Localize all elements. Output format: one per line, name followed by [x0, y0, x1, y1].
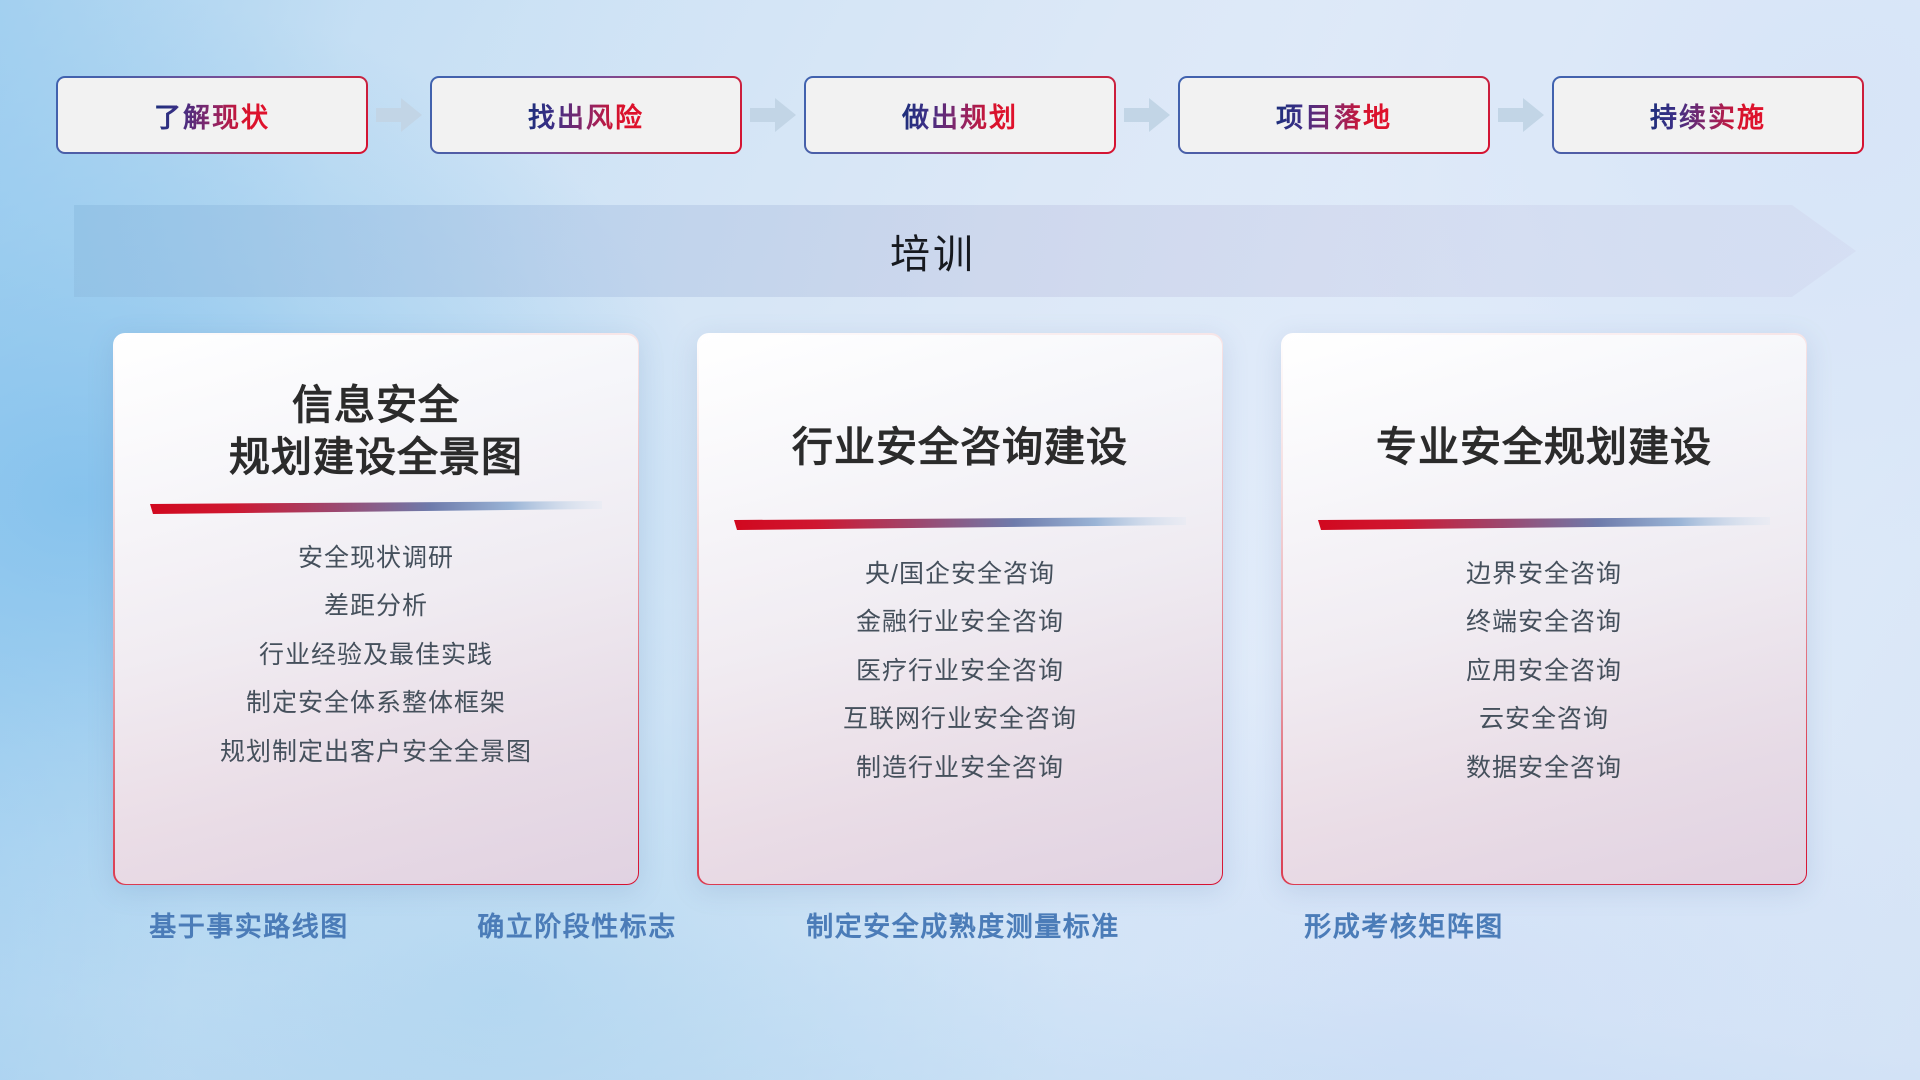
card-list-item: 边界安全咨询	[1466, 556, 1622, 594]
footer-label-3: 制定安全成熟度测量标准	[806, 905, 1120, 944]
step-label: 了解现状	[154, 96, 270, 135]
service-card-inner: 信息安全规划建设全景图安全现状调研差距分析行业经验及最佳实践制定安全体系整体框架…	[115, 335, 638, 884]
card-divider	[1318, 517, 1770, 530]
card-title-line: 行业安全咨询建设	[717, 422, 1204, 474]
card-title: 专业安全规划建设	[1283, 393, 1806, 503]
step-label: 做出规划	[902, 96, 1018, 135]
footer-label-1: 基于事实路线图	[149, 905, 349, 944]
service-card-inner: 行业安全咨询建设央/国企安全咨询金融行业安全咨询医疗行业安全咨询互联网行业安全咨…	[699, 335, 1222, 884]
card-list-item: 制造行业安全咨询	[856, 750, 1064, 788]
footer-label-row: 基于事实路线图确立阶段性标志制定安全成熟度测量标准形成考核矩阵图	[0, 905, 1920, 961]
card-title-line: 规划建设全景图	[133, 432, 620, 484]
card-title-line: 信息安全	[133, 380, 620, 432]
service-card-3[interactable]: 专业安全规划建设边界安全咨询终端安全咨询应用安全咨询云安全咨询数据安全咨询	[1281, 333, 1807, 885]
step-box-2[interactable]: 找出风险	[430, 76, 742, 154]
card-divider	[734, 517, 1186, 530]
step-box-inner: 项目落地	[1180, 78, 1488, 152]
step-arrow-icon	[1116, 98, 1178, 132]
step-box-1[interactable]: 了解现状	[56, 76, 368, 154]
card-list-item: 数据安全咨询	[1466, 750, 1622, 788]
step-box-inner: 做出规划	[806, 78, 1114, 152]
card-list-item: 终端安全咨询	[1466, 604, 1622, 642]
step-label: 项目落地	[1276, 96, 1392, 135]
card-list-item: 规划制定出客户安全全景图	[220, 734, 532, 772]
step-arrow-icon	[742, 98, 804, 132]
step-box-3[interactable]: 做出规划	[804, 76, 1116, 154]
step-arrow-icon	[368, 98, 430, 132]
step-arrow-icon	[1490, 98, 1552, 132]
step-label: 持续实施	[1650, 96, 1766, 135]
card-list-item: 制定安全体系整体框架	[246, 685, 506, 723]
process-step-row: 了解现状找出风险做出规划项目落地持续实施	[0, 76, 1920, 154]
card-list-item: 行业经验及最佳实践	[259, 637, 493, 675]
card-list-item: 金融行业安全咨询	[856, 604, 1064, 642]
card-title: 行业安全咨询建设	[699, 393, 1222, 503]
service-card-1[interactable]: 信息安全规划建设全景图安全现状调研差距分析行业经验及最佳实践制定安全体系整体框架…	[113, 333, 639, 885]
card-row: 信息安全规划建设全景图安全现状调研差距分析行业经验及最佳实践制定安全体系整体框架…	[0, 333, 1920, 885]
service-card-inner: 专业安全规划建设边界安全咨询终端安全咨询应用安全咨询云安全咨询数据安全咨询	[1283, 335, 1806, 884]
step-box-5[interactable]: 持续实施	[1552, 76, 1864, 154]
card-list-item: 差距分析	[324, 588, 428, 626]
card-title: 信息安全规划建设全景图	[115, 377, 638, 487]
card-list-item: 央/国企安全咨询	[865, 556, 1055, 594]
service-card-2[interactable]: 行业安全咨询建设央/国企安全咨询金融行业安全咨询医疗行业安全咨询互联网行业安全咨…	[697, 333, 1223, 885]
banner-title: 培训	[74, 205, 1856, 297]
step-box-inner: 找出风险	[432, 78, 740, 152]
step-box-4[interactable]: 项目落地	[1178, 76, 1490, 154]
step-box-inner: 了解现状	[58, 78, 366, 152]
card-list-item: 医疗行业安全咨询	[856, 653, 1064, 691]
card-divider	[150, 501, 602, 514]
card-item-list: 央/国企安全咨询金融行业安全咨询医疗行业安全咨询互联网行业安全咨询制造行业安全咨…	[699, 556, 1222, 788]
card-list-item: 互联网行业安全咨询	[843, 701, 1077, 739]
card-item-list: 安全现状调研差距分析行业经验及最佳实践制定安全体系整体框架规划制定出客户安全全景…	[115, 540, 638, 772]
card-list-item: 安全现状调研	[298, 540, 454, 578]
training-banner: 培训	[74, 205, 1856, 297]
card-title-line: 专业安全规划建设	[1301, 422, 1788, 474]
step-label: 找出风险	[528, 96, 644, 135]
card-list-item: 应用安全咨询	[1466, 653, 1622, 691]
footer-label-2: 确立阶段性标志	[477, 905, 677, 944]
card-list-item: 云安全咨询	[1479, 701, 1609, 739]
footer-label-4: 形成考核矩阵图	[1304, 905, 1504, 944]
step-box-inner: 持续实施	[1554, 78, 1862, 152]
card-item-list: 边界安全咨询终端安全咨询应用安全咨询云安全咨询数据安全咨询	[1283, 556, 1806, 788]
